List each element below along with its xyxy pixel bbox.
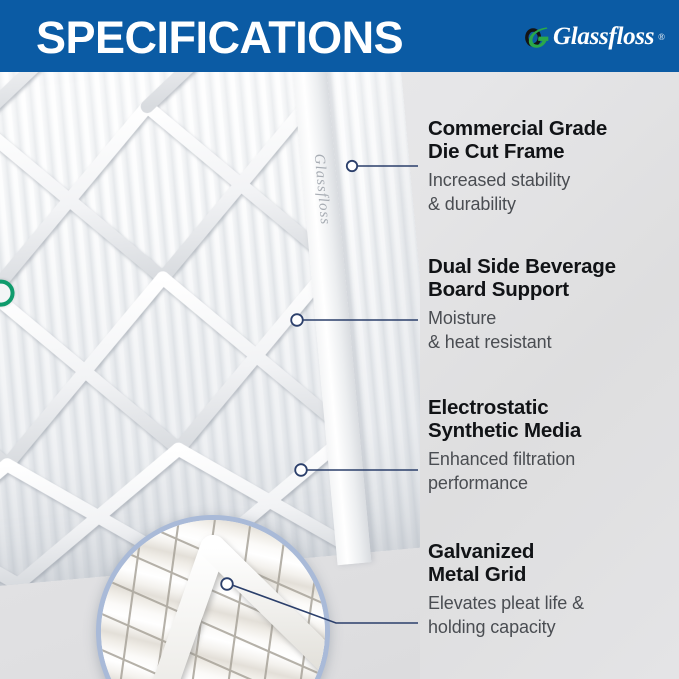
callout-title-line2: Board Support (428, 278, 569, 301)
callout-dual-side-beverage-board-support: Dual Side Beverage Board Support Moistur… (428, 255, 678, 354)
page-title: SPECIFICATIONS (36, 14, 403, 62)
callout-title: Commercial Grade Die Cut Frame (428, 117, 678, 163)
trademark-symbol: ® (658, 32, 665, 42)
callout-body-line2: performance (428, 473, 528, 493)
magnified-mesh-icon (101, 520, 325, 679)
callout-commercial-grade-die-cut-frame: Commercial Grade Die Cut Frame Increased… (428, 117, 678, 216)
glassfloss-g-swoosh-icon (523, 24, 550, 51)
brand-logo: Glassfloss ® (523, 22, 665, 52)
magnifier-content (101, 520, 325, 679)
callout-electrostatic-synthetic-media: Electrostatic Synthetic Media Enhanced f… (428, 396, 678, 495)
callout-body-line1: Elevates pleat life & (428, 593, 584, 613)
callout-title-line1: Galvanized (428, 540, 534, 563)
callout-title-line2: Synthetic Media (428, 419, 581, 442)
callout-body: Enhanced filtration performance (428, 447, 678, 495)
product-photo: Glassfloss (0, 72, 420, 679)
callout-title: Dual Side Beverage Board Support (428, 255, 678, 301)
callout-body-line2: holding capacity (428, 617, 556, 637)
callout-body-line1: Moisture (428, 308, 496, 328)
callout-body-line1: Enhanced filtration (428, 449, 575, 469)
callout-title-line2: Die Cut Frame (428, 140, 564, 163)
callout-body: Moisture & heat resistant (428, 306, 678, 354)
callout-body-line2: & durability (428, 194, 516, 214)
callout-body: Increased stability & durability (428, 168, 678, 216)
callout-title: Galvanized Metal Grid (428, 540, 678, 586)
frame-brand-text: Glassfloss (310, 153, 331, 194)
callout-title-line1: Electrostatic (428, 396, 548, 419)
callout-body-line1: Increased stability (428, 170, 570, 190)
callout-body-line2: & heat resistant (428, 332, 551, 352)
callout-body: Elevates pleat life & holding capacity (428, 591, 678, 639)
magnifier-inset (96, 515, 330, 679)
callout-title: Electrostatic Synthetic Media (428, 396, 678, 442)
specifications-infographic: SPECIFICATIONS Glassfloss ® (0, 0, 679, 679)
header-bar: SPECIFICATIONS Glassfloss ® (0, 0, 679, 72)
callout-title-line1: Dual Side Beverage (428, 255, 616, 278)
callout-title-line2: Metal Grid (428, 563, 526, 586)
callout-galvanized-metal-grid: Galvanized Metal Grid Elevates pleat lif… (428, 540, 678, 639)
brand-name: Glassfloss (553, 24, 654, 50)
callout-title-line1: Commercial Grade (428, 117, 607, 140)
